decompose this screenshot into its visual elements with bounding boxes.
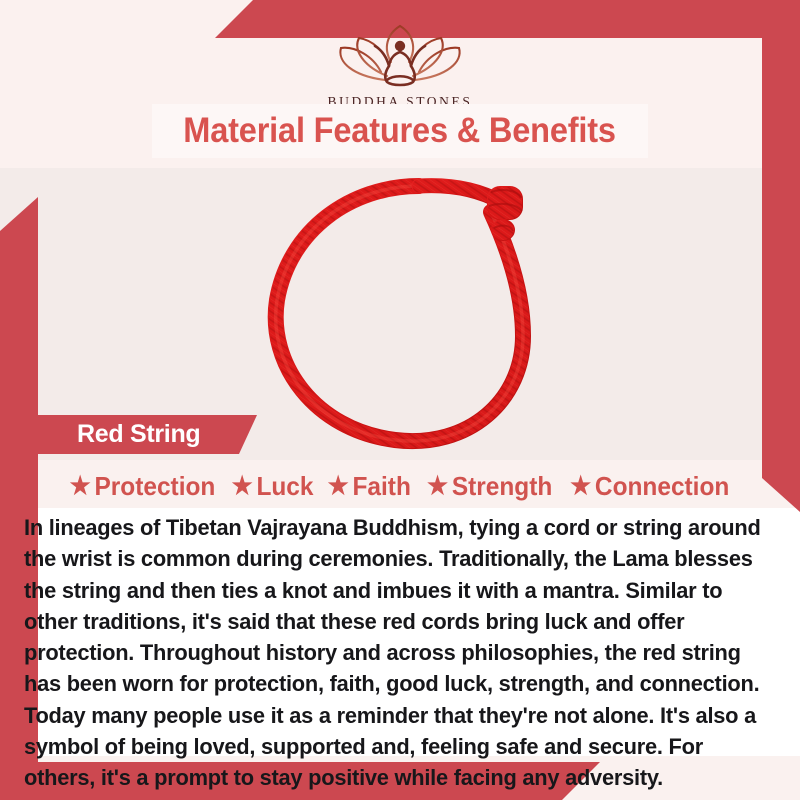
feature-label: Luck bbox=[257, 471, 314, 502]
feature-label: Faith bbox=[353, 471, 411, 502]
feature-label: Strength bbox=[452, 471, 552, 502]
star-icon: ★ bbox=[570, 474, 591, 499]
lotus-meditation-icon bbox=[325, 18, 475, 90]
feature-label: Connection bbox=[595, 471, 729, 502]
star-icon: ★ bbox=[427, 474, 448, 499]
feature-list: ★ Protection ★ Luck ★ Faith ★ Strength ★… bbox=[0, 466, 800, 506]
feature-label: Protection bbox=[95, 471, 216, 502]
title-band: Material Features & Benefits bbox=[152, 104, 648, 158]
description-text: In lineages of Tibetan Vajrayana Buddhis… bbox=[24, 512, 761, 794]
bracelet-illustration bbox=[255, 168, 575, 468]
ribbon-red-string: Red String bbox=[19, 415, 257, 454]
star-icon: ★ bbox=[232, 474, 253, 499]
feature-item-faith: ★ Faith bbox=[328, 471, 411, 502]
feature-item-protection: ★ Protection bbox=[70, 471, 216, 502]
feature-item-connection: ★ Connection bbox=[570, 471, 729, 502]
page-title: Material Features & Benefits bbox=[184, 111, 617, 151]
ribbon-label: Red String bbox=[77, 420, 200, 449]
infographic-page: BUDDHA STONES Material Features & Benefi… bbox=[0, 0, 800, 800]
brand-logo: BUDDHA STONES bbox=[0, 18, 800, 110]
star-icon: ★ bbox=[70, 474, 91, 499]
feature-item-strength: ★ Strength bbox=[427, 471, 552, 502]
product-image-red-string-bracelet bbox=[255, 168, 575, 468]
star-icon: ★ bbox=[328, 474, 349, 499]
feature-item-luck: ★ Luck bbox=[232, 471, 314, 502]
